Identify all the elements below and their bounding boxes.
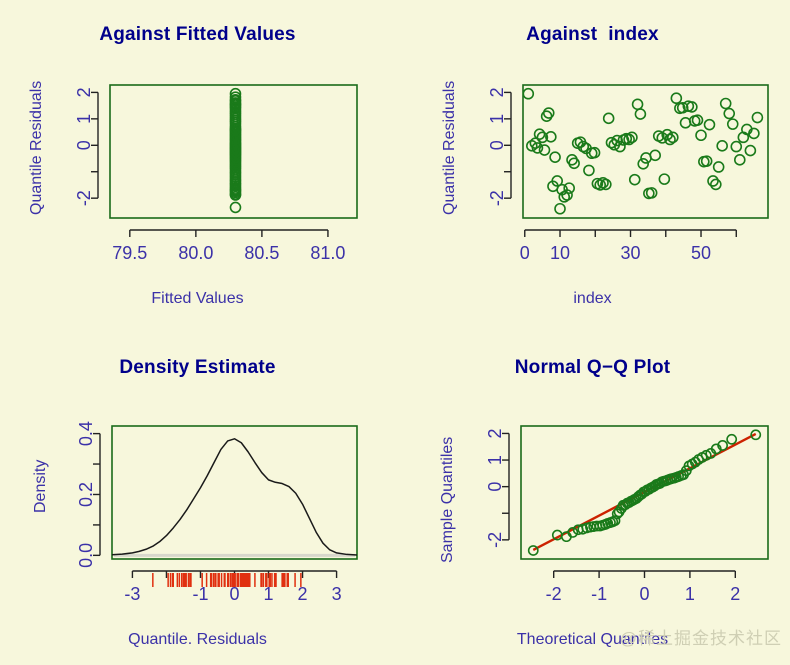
panel-density-estimate: Density Estimate -3-101230.00.20.4 Quant… (0, 333, 395, 665)
y-axis-title-index: Quantile Residuals (441, 81, 459, 215)
data-point (550, 152, 560, 162)
density-curve (112, 439, 357, 555)
y-tick-label: 0 (74, 140, 94, 150)
data-point (529, 546, 538, 555)
y-axis-title-fitted: Quantile Residuals (28, 81, 46, 215)
y-tick-label: 2 (74, 87, 94, 97)
data-point (727, 435, 736, 444)
data-point (752, 113, 762, 123)
x-tick-label: -2 (546, 584, 562, 604)
data-point (731, 142, 741, 152)
x-tick-label: 81.0 (310, 243, 345, 263)
y-tick-label: -2 (485, 532, 505, 548)
plot-area-fitted: 79.580.080.581.0-2012 (0, 0, 395, 332)
x-tick-label: 1 (685, 584, 695, 604)
y-axis-title-qq: Sample Quantiles (439, 437, 457, 563)
data-point (604, 113, 614, 123)
panel-against-index: Against index 0103050-2012 index Quantil… (395, 0, 790, 332)
x-tick-label: -3 (124, 584, 140, 604)
y-tick-label: 1 (485, 455, 505, 465)
x-axis-title-qq: Theoretical Quantiles (395, 631, 790, 649)
x-tick-label: 79.5 (112, 243, 147, 263)
y-axis-title-density: Density (32, 460, 50, 513)
data-point (544, 108, 554, 118)
data-point (523, 89, 533, 99)
y-tick-label: -2 (487, 190, 507, 206)
data-point (696, 130, 706, 140)
x-tick-label: 80.5 (244, 243, 279, 263)
data-point (569, 158, 579, 168)
data-point (564, 183, 574, 193)
data-points (523, 89, 762, 214)
diagnostic-plot-figure: Against Fitted Values 79.580.080.581.0-2… (0, 0, 790, 665)
data-points (230, 89, 240, 213)
x-axis-title-fitted: Fitted Values (0, 290, 395, 308)
y-tick-label: 0 (485, 482, 505, 492)
panel-normal-qq-plot: Normal Q−Q Plot -2-1012-2012 Theoretical… (395, 333, 790, 665)
x-tick-label: 0 (520, 243, 530, 263)
data-point (724, 109, 734, 119)
y-tick-label: 0.4 (76, 421, 96, 446)
data-point (638, 159, 648, 169)
x-tick-label: 80.0 (178, 243, 213, 263)
data-point (671, 93, 681, 103)
rug-marks (153, 573, 301, 587)
data-point (540, 145, 550, 155)
data-point (714, 162, 724, 172)
y-tick-label: -2 (74, 190, 94, 206)
data-points (529, 430, 761, 555)
y-tick-label: 1 (487, 114, 507, 124)
y-tick-label: 2 (487, 87, 507, 97)
data-point (230, 202, 240, 212)
data-point (630, 175, 640, 185)
data-point (659, 174, 669, 184)
data-point (728, 119, 738, 129)
data-point (681, 118, 691, 128)
data-point (633, 99, 643, 109)
data-point (584, 165, 594, 175)
y-tick-label: 0 (487, 140, 507, 150)
data-point (721, 99, 731, 109)
y-tick-label: 0.0 (76, 543, 96, 568)
data-point (635, 109, 645, 119)
data-point (650, 150, 660, 160)
data-point (555, 204, 565, 214)
data-point (745, 146, 755, 156)
x-tick-label: 10 (550, 243, 570, 263)
data-point (735, 155, 745, 165)
y-tick-label: 0.2 (76, 482, 96, 507)
y-tick-label: 1 (74, 114, 94, 124)
x-tick-label: 2 (298, 584, 308, 604)
plot-area-density: -3-101230.00.20.4 (0, 333, 395, 665)
x-tick-label: 3 (332, 584, 342, 604)
x-tick-label: 30 (621, 243, 641, 263)
panel-against-fitted-values: Against Fitted Values 79.580.080.581.0-2… (0, 0, 395, 332)
data-point (717, 141, 727, 151)
x-tick-label: -1 (591, 584, 607, 604)
data-point (704, 120, 714, 130)
y-tick-label: 2 (485, 428, 505, 438)
x-tick-label: 2 (730, 584, 740, 604)
x-axis-title-density: Quantile. Residuals (0, 631, 395, 649)
x-tick-label: 50 (691, 243, 711, 263)
x-tick-label: 0 (639, 584, 649, 604)
x-axis-title-index: index (395, 290, 790, 308)
